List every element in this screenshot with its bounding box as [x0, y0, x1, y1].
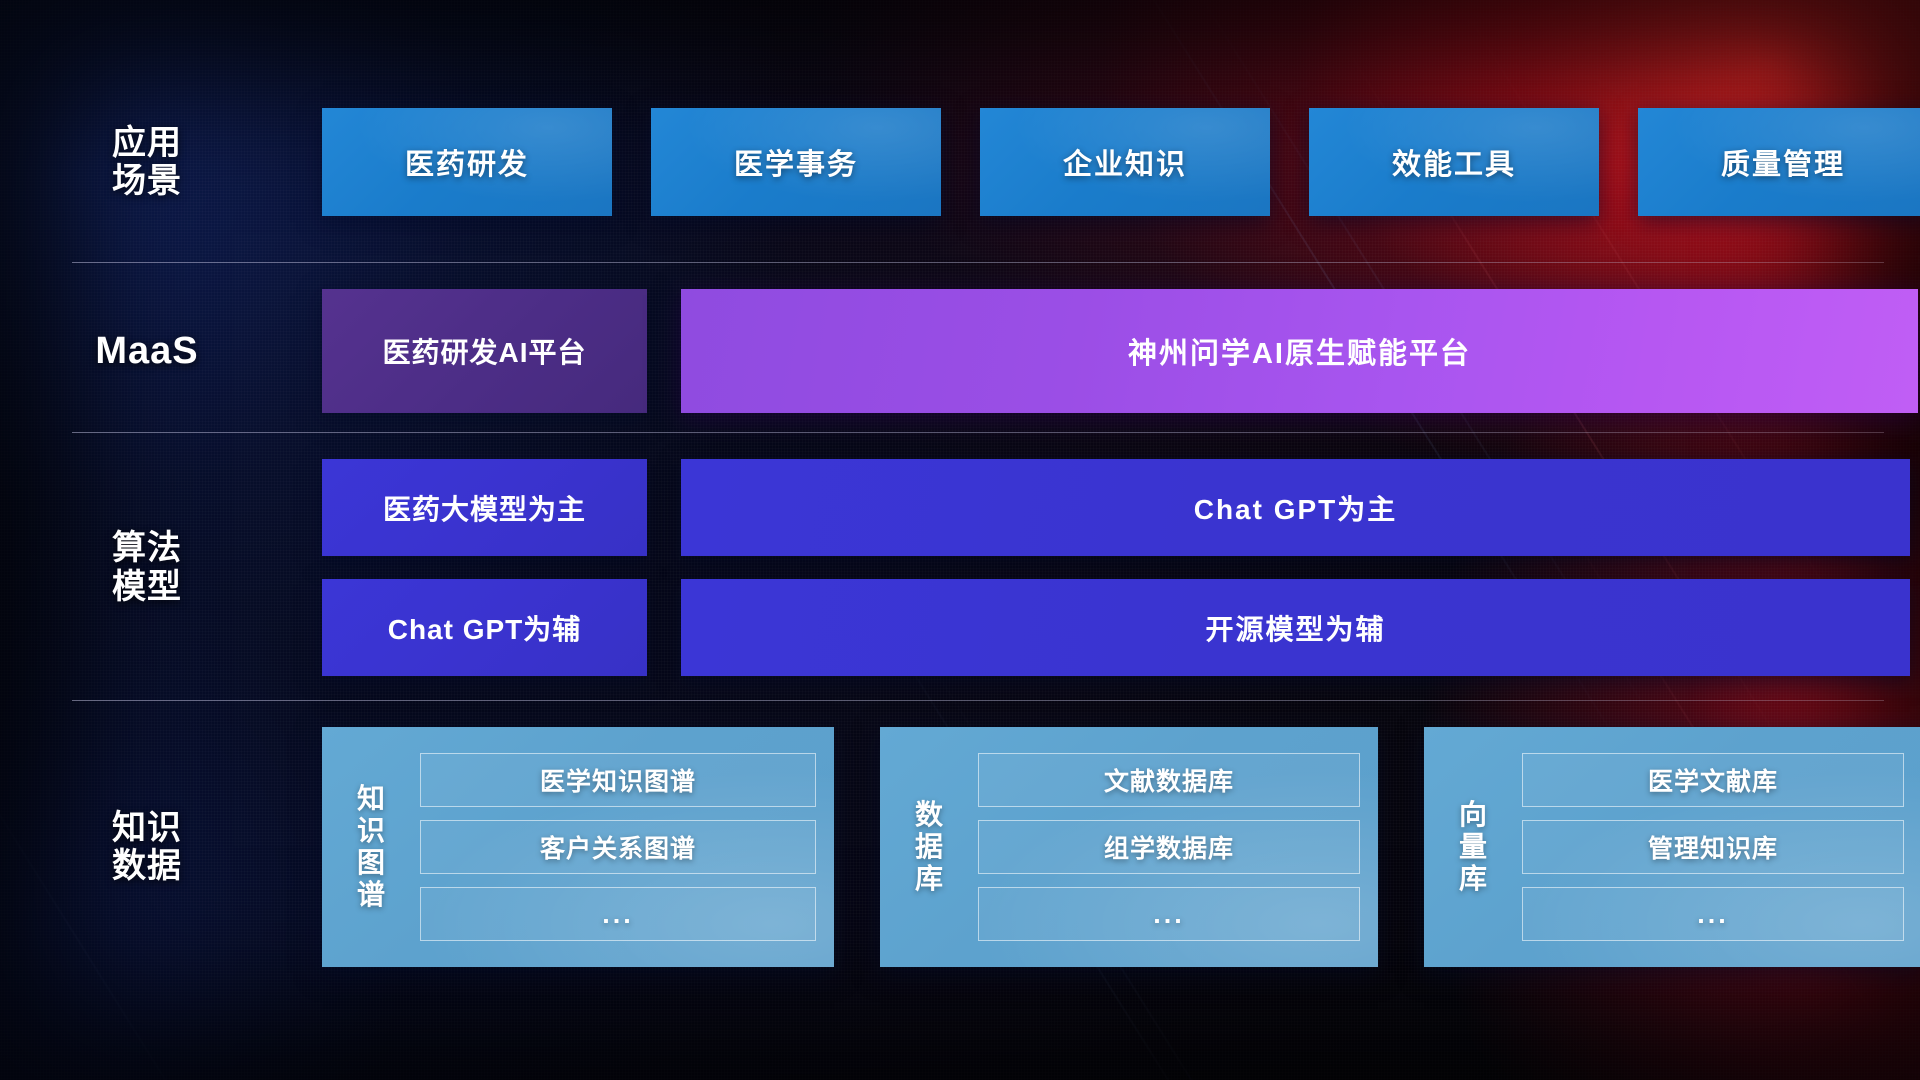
key-char: 库 — [915, 863, 943, 895]
row-label-line: MaaS — [72, 330, 222, 373]
scenario-box-efficiency-tools[interactable]: 效能工具 — [1309, 108, 1599, 216]
row-label-line: 数据 — [72, 847, 222, 885]
algo-label: Chat GPT为辅 — [388, 608, 582, 648]
knowledge-item-customer-relation-graph[interactable]: 客户关系图谱 — [420, 820, 816, 874]
knowledge-item-label: 文献数据库 — [1104, 762, 1234, 798]
row-label-line: 知识 — [72, 809, 222, 847]
knowledge-item-management-knowledge-store[interactable]: 管理知识库 — [1522, 820, 1904, 874]
key-char: 谱 — [357, 879, 385, 911]
knowledge-panel-knowledge-graph[interactable]: 知 识 图 谱 医学知识图谱 客户关系图谱 ... — [322, 727, 834, 967]
maas-box-shenzhou-wenxue-platform[interactable]: 神州问学AI原生赋能平台 — [681, 289, 1918, 413]
architecture-diagram: 应用 场景 医药研发 医学事务 企业知识 效能工具 质量管理 MaaS 医药研发… — [0, 0, 1920, 1080]
knowledge-item-medical-knowledge-graph[interactable]: 医学知识图谱 — [420, 753, 816, 807]
knowledge-item-list: 医学知识图谱 客户关系图谱 ... — [404, 740, 816, 954]
algo-box-chatgpt-secondary[interactable]: Chat GPT为辅 — [322, 579, 647, 676]
knowledge-panel-key-database: 数 据 库 — [896, 740, 962, 954]
scenario-box-enterprise-knowledge[interactable]: 企业知识 — [980, 108, 1270, 216]
knowledge-item-label: ... — [1697, 899, 1729, 930]
divider-1 — [72, 262, 1884, 263]
row-knowledge-data: 知识 数据 知 识 图 谱 医学知识图谱 客户关系图谱 ... — [72, 727, 1920, 967]
algorithm-row-secondary: Chat GPT为辅 开源模型为辅 — [322, 579, 1910, 676]
knowledge-item-literature-database[interactable]: 文献数据库 — [978, 753, 1360, 807]
knowledge-panel-key-knowledge-graph: 知 识 图 谱 — [338, 740, 404, 954]
key-char: 图 — [357, 847, 385, 879]
maas-box-drug-rd-ai-platform[interactable]: 医药研发AI平台 — [322, 289, 647, 413]
row-label-application-scenarios: 应用 场景 — [72, 124, 222, 200]
divider-2 — [72, 432, 1884, 433]
row-label-line: 场景 — [72, 162, 222, 200]
scenario-label: 企业知识 — [1063, 141, 1187, 183]
knowledge-item-more[interactable]: ... — [420, 887, 816, 941]
row-label-line: 算法 — [72, 529, 222, 567]
knowledge-item-list: 文献数据库 组学数据库 ... — [962, 740, 1360, 954]
row-label-maas: MaaS — [72, 330, 222, 373]
knowledge-item-list: 医学文献库 管理知识库 ... — [1506, 740, 1904, 954]
knowledge-item-medical-literature-store[interactable]: 医学文献库 — [1522, 753, 1904, 807]
key-char: 向 — [1459, 799, 1487, 831]
row-application-scenarios: 应用 场景 医药研发 医学事务 企业知识 效能工具 质量管理 — [72, 108, 1920, 216]
algo-label: 开源模型为辅 — [1205, 608, 1385, 648]
scenario-box-quality-management[interactable]: 质量管理 — [1638, 108, 1920, 216]
knowledge-item-label: 组学数据库 — [1104, 829, 1234, 865]
algo-box-pharma-llm-primary[interactable]: 医药大模型为主 — [322, 459, 647, 556]
divider-3 — [72, 700, 1884, 701]
scenario-label: 效能工具 — [1392, 141, 1516, 183]
knowledge-item-label: ... — [1153, 899, 1185, 930]
knowledge-item-label: 医学文献库 — [1648, 762, 1778, 798]
knowledge-item-omics-database[interactable]: 组学数据库 — [978, 820, 1360, 874]
knowledge-item-more[interactable]: ... — [978, 887, 1360, 941]
knowledge-panel-list: 知 识 图 谱 医学知识图谱 客户关系图谱 ... 数 据 库 — [322, 727, 1920, 967]
key-char: 知 — [357, 783, 385, 815]
row-label-algorithm-models: 算法 模型 — [72, 529, 222, 605]
knowledge-panel-database[interactable]: 数 据 库 文献数据库 组学数据库 ... — [880, 727, 1378, 967]
scenario-box-drug-rd[interactable]: 医药研发 — [322, 108, 612, 216]
scenario-label: 质量管理 — [1721, 141, 1845, 183]
algo-box-chatgpt-primary[interactable]: Chat GPT为主 — [681, 459, 1910, 556]
row-algorithm-models: 算法 模型 医药大模型为主 Chat GPT为主 Chat GPT为辅 开源模型… — [72, 459, 1910, 676]
knowledge-item-label: 管理知识库 — [1648, 829, 1778, 865]
key-char: 据 — [915, 831, 943, 863]
maas-list: 医药研发AI平台 神州问学AI原生赋能平台 — [322, 289, 1918, 413]
row-label-line: 模型 — [72, 568, 222, 606]
algo-label: 医药大模型为主 — [383, 488, 586, 528]
algo-box-opensource-secondary[interactable]: 开源模型为辅 — [681, 579, 1910, 676]
row-maas: MaaS 医药研发AI平台 神州问学AI原生赋能平台 — [72, 289, 1918, 413]
maas-right-label: 神州问学AI原生赋能平台 — [1128, 330, 1471, 372]
knowledge-item-label: ... — [602, 899, 634, 930]
key-char: 数 — [915, 799, 943, 831]
key-char: 库 — [1459, 863, 1487, 895]
row-label-line: 应用 — [72, 124, 222, 162]
knowledge-item-label: 医学知识图谱 — [540, 762, 696, 798]
scenario-box-medical-affairs[interactable]: 医学事务 — [651, 108, 941, 216]
knowledge-panel-key-vector-store: 向 量 库 — [1440, 740, 1506, 954]
application-scenario-list: 医药研发 医学事务 企业知识 效能工具 质量管理 — [322, 108, 1920, 216]
knowledge-item-more[interactable]: ... — [1522, 887, 1904, 941]
row-label-knowledge-data: 知识 数据 — [72, 809, 222, 885]
algorithm-row-primary: 医药大模型为主 Chat GPT为主 — [322, 459, 1910, 556]
maas-left-label: 医药研发AI平台 — [382, 331, 586, 371]
algorithm-model-list: 医药大模型为主 Chat GPT为主 Chat GPT为辅 开源模型为辅 — [322, 459, 1910, 676]
algo-label: Chat GPT为主 — [1194, 488, 1398, 528]
scenario-label: 医学事务 — [734, 141, 858, 183]
knowledge-panel-vector-store[interactable]: 向 量 库 医学文献库 管理知识库 ... — [1424, 727, 1920, 967]
key-char: 识 — [357, 815, 385, 847]
scenario-label: 医药研发 — [405, 141, 529, 183]
knowledge-item-label: 客户关系图谱 — [540, 829, 696, 865]
key-char: 量 — [1459, 831, 1487, 863]
